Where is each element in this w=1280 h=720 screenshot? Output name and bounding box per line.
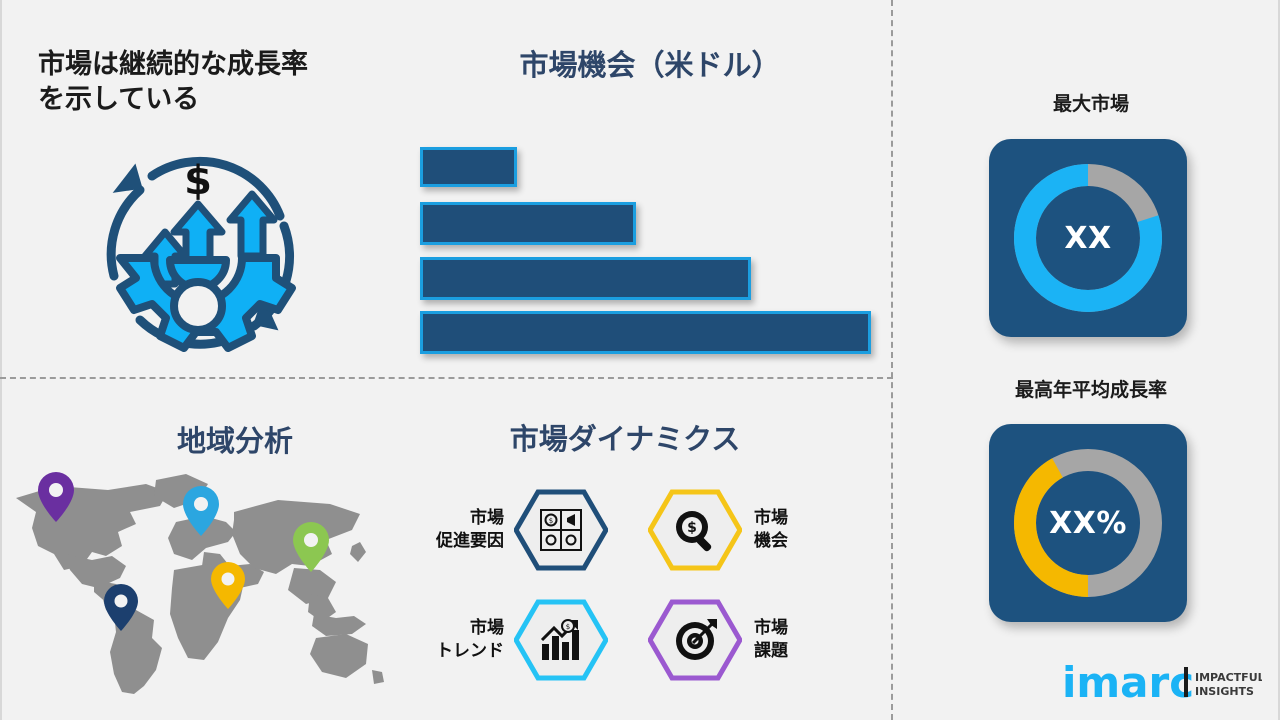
- dynamics-item-opportunities-hex: $: [648, 488, 742, 572]
- infographic-canvas: 市場は継続的な成長率 を示している $: [0, 0, 1280, 720]
- dynamics-item-trends-label: 市場 トレンド: [408, 617, 504, 663]
- largest-market-title: 最大市場: [960, 92, 1222, 116]
- bar-row: [420, 202, 880, 245]
- dynamics-item-drivers[interactable]: 市場 促進要因 $: [408, 488, 608, 572]
- imarc-logo: imarc IMPACTFUL INSIGHTS: [1062, 657, 1262, 707]
- horizontal-divider: [0, 377, 893, 379]
- logo-tagline-line2: INSIGHTS: [1195, 685, 1254, 698]
- bar-row: [420, 147, 880, 187]
- dynamics-section-title: 市場ダイナミクス: [455, 422, 795, 457]
- dynamics-item-drivers-label: 市場 促進要因: [408, 507, 504, 553]
- svg-text:$: $: [549, 517, 553, 525]
- dynamics-item-opportunities-label: 市場 機会: [754, 507, 788, 553]
- opportunity-section-title: 市場機会（米ドル）: [420, 48, 880, 83]
- dynamics-item-trends[interactable]: 市場 トレンド $: [408, 598, 608, 682]
- opportunity-bar-chart: [420, 145, 880, 345]
- world-map: [0, 462, 398, 697]
- bar-4: [420, 311, 871, 354]
- largest-market-value: XX: [989, 139, 1187, 337]
- logo-tagline-line1: IMPACTFUL: [1195, 671, 1262, 684]
- logo-divider: [1184, 667, 1188, 697]
- svg-text:$: $: [184, 158, 212, 204]
- bar-row: [420, 311, 880, 354]
- svg-text:$: $: [566, 623, 570, 631]
- bar-row: [420, 257, 880, 300]
- growth-section-title: 市場は継続的な成長率 を示している: [38, 48, 388, 117]
- cagr-donut-card: XX%: [989, 424, 1187, 622]
- imarc-wordmark: imarc: [1062, 658, 1194, 707]
- dynamics-item-challenges-hex: [648, 598, 742, 682]
- largest-market-donut-card: XX: [989, 139, 1187, 337]
- dynamics-item-drivers-hex: $: [514, 488, 608, 572]
- bar-2: [420, 202, 636, 245]
- svg-text:$: $: [687, 520, 697, 536]
- dynamics-item-challenges[interactable]: 市場 課題: [648, 598, 848, 682]
- regional-section-title: 地域分析: [120, 424, 350, 459]
- dynamics-item-challenges-label: 市場 課題: [754, 617, 788, 663]
- bar-3: [420, 257, 751, 300]
- vertical-divider: [891, 0, 893, 720]
- cagr-value: XX%: [989, 424, 1187, 622]
- cagr-title: 最高年平均成長率: [955, 378, 1227, 402]
- dynamics-item-trends-hex: $: [514, 598, 608, 682]
- dynamics-item-opportunities[interactable]: $ 市場 機会: [648, 488, 848, 572]
- bar-1: [420, 147, 517, 187]
- growth-cycle-gear-icon: $: [78, 128, 318, 368]
